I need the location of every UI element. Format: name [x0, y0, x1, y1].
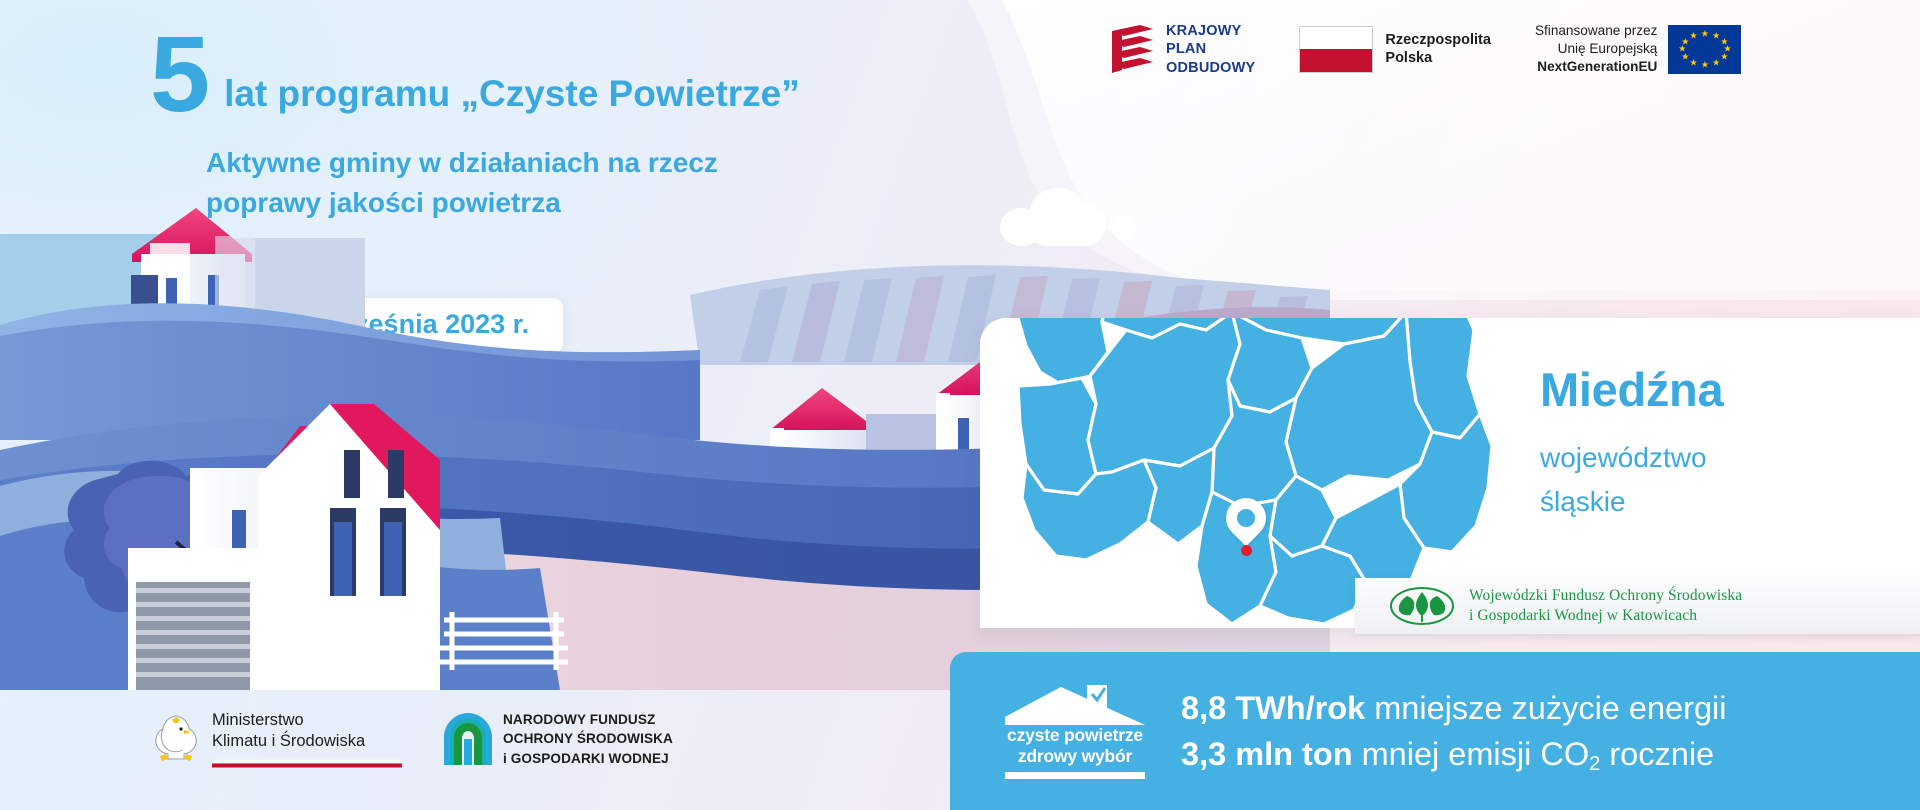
wfosigw-logo-strip: Wojewódzki Fundusz Ochrony Środowiska i …: [1355, 578, 1920, 634]
gmina-info: Miedźna województwo śląskie: [1540, 366, 1723, 521]
ministry-logo: Ministerstwo Klimatu i Środowiska: [150, 710, 402, 767]
eu-line-3: NextGenerationEU: [1535, 58, 1657, 76]
eu-star-icon: ★: [1681, 37, 1689, 46]
eu-star-icon: ★: [1720, 52, 1728, 61]
cp-logo-underline: [1005, 772, 1145, 779]
statistics-list: 8,8 TWh/rok mniejsze zużycie energii 3,3…: [1181, 685, 1726, 777]
republic-of-poland-logo: Rzeczpospolita Polska: [1299, 26, 1491, 73]
kpo-mark-icon: [1110, 23, 1155, 75]
nfosigw-logo: NARODOWY FUNDUSZ OCHRONY ŚRODOWISKA i GO…: [444, 710, 673, 768]
ministry-line-2: Klimatu i Środowiska: [212, 731, 402, 752]
eu-line-1: Sfinansowane przez: [1535, 22, 1657, 40]
kpo-line-3: ODBUDOWY: [1166, 59, 1255, 77]
stat-co2-text-a: mniej emisji CO: [1353, 736, 1590, 772]
eu-line-2: Unię Europejską: [1535, 40, 1657, 58]
map-pin-icon: [1226, 498, 1272, 560]
wfosigw-line-1: Wojewódzki Fundusz Ochrony Środowiska: [1469, 586, 1742, 606]
funding-logo-row: KRAJOWY PLAN ODBUDOWY Rzeczpospolita Pol…: [1110, 22, 1741, 77]
czyste-powietrze-logo: czyste powietrze zdrowy wybór: [1005, 683, 1145, 780]
ministry-line-1: Ministerstwo: [212, 710, 402, 731]
stat-energy-value: 8,8 TWh/rok: [1181, 690, 1365, 726]
wfosigw-logo-text: Wojewódzki Fundusz Ochrony Środowiska i …: [1469, 586, 1742, 626]
statistics-banner: czyste powietrze zdrowy wybór 8,8 TWh/ro…: [950, 652, 1920, 810]
stat-energy: 8,8 TWh/rok mniejsze zużycie energii: [1181, 685, 1726, 731]
eu-flag-icon: ★★★★★★★★★★★★: [1668, 25, 1741, 74]
nfosigw-logo-text: NARODOWY FUNDUSZ OCHRONY ŚRODOWISKA i GO…: [503, 710, 673, 768]
eu-star-icon: ★: [1690, 32, 1698, 41]
cp-logo-line-2: zdrowy wybór: [1018, 746, 1132, 767]
rp-logo-text: Rzeczpospolita Polska: [1385, 31, 1491, 69]
gmina-name: Miedźna: [1540, 366, 1723, 413]
stat-co2: 3,3 mln ton mniej emisji CO2 rocznie: [1181, 731, 1726, 777]
wfosigw-line-2: i Gospodarki Wodnej w Katowicach: [1469, 606, 1742, 626]
eu-logo-text: Sfinansowane przez Unię Europejską NextG…: [1535, 22, 1657, 76]
ministry-flag-rule: [212, 759, 402, 768]
nfosigw-mark-icon: [444, 713, 492, 765]
stat-energy-text: mniejsze zużycie energii: [1365, 690, 1726, 726]
poster-canvas: 5 lat programu „Czyste Powietrze” Aktywn…: [0, 0, 1920, 810]
voivodeship-label: województwo: [1540, 439, 1723, 477]
voivodeship-name: śląskie: [1540, 483, 1723, 521]
eu-funding-logo: Sfinansowane przez Unię Europejską NextG…: [1535, 22, 1741, 76]
kpo-logo-text: KRAJOWY PLAN ODBUDOWY: [1166, 22, 1255, 77]
kpo-line-2: PLAN: [1166, 40, 1255, 58]
house-check-icon: [1005, 683, 1145, 725]
wfosigw-tree-icon: [1389, 586, 1455, 626]
stat-co2-text-b: rocznie: [1600, 736, 1714, 772]
nfosigw-line-1: NARODOWY FUNDUSZ: [503, 710, 673, 729]
nfosigw-line-2: OCHRONY ŚRODOWISKA: [503, 729, 673, 748]
stat-co2-value: 3,3 mln ton: [1181, 736, 1353, 772]
polish-eagle-icon: [150, 711, 202, 767]
polish-flag-icon: [1299, 26, 1373, 73]
years-number: 5: [150, 28, 208, 121]
cp-logo-line-1: czyste powietrze: [1007, 725, 1143, 746]
eu-star-icon: ★: [1712, 32, 1720, 41]
program-title: lat programu „Czyste Powietrze”: [224, 74, 800, 121]
stat-co2-subscript: 2: [1589, 753, 1600, 775]
nfosigw-line-3: i GOSPODARKI WODNEJ: [503, 749, 673, 768]
kpo-line-1: KRAJOWY: [1166, 22, 1255, 40]
rp-line-1: Rzeczpospolita: [1385, 31, 1491, 50]
eu-star-icon: ★: [1690, 58, 1698, 67]
institution-logo-row: Ministerstwo Klimatu i Środowiska NARODO…: [150, 710, 673, 768]
rp-line-2: Polska: [1385, 49, 1491, 68]
kpo-logo: KRAJOWY PLAN ODBUDOWY: [1110, 22, 1255, 77]
eu-star-icon: ★: [1712, 58, 1720, 67]
eu-star-icon: ★: [1701, 30, 1709, 39]
eu-star-icon: ★: [1701, 60, 1709, 69]
